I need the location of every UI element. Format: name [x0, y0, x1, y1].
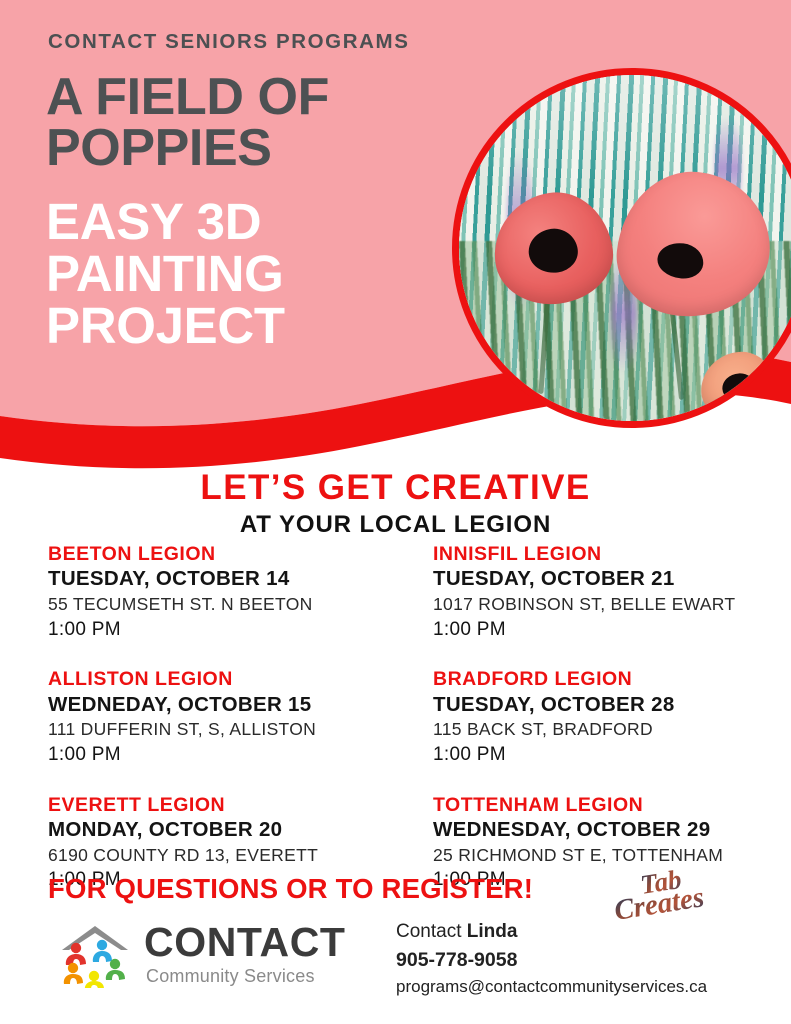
- contact-community-services-logo: CONTACT Community Services: [52, 918, 362, 990]
- legion-time: 1:00 PM: [433, 742, 791, 768]
- contact-details-block: Contact Linda 905-778-9058 programs@cont…: [396, 918, 707, 999]
- legion-address: 115 BACK ST, BRADFORD: [433, 718, 791, 742]
- legion-name: EVERETT LEGION: [48, 793, 433, 817]
- org-logo-tagline: Community Services: [146, 966, 315, 987]
- org-logo-wordmark: CONTACT: [144, 922, 346, 963]
- legion-date: WEDNEDAY, OCTOBER 15: [48, 692, 433, 719]
- title-dark-line-2: POPPIES: [46, 123, 329, 174]
- creative-subheadline: AT YOUR LOCAL LEGION: [0, 511, 791, 539]
- legion-entry: BRADFORD LEGION TUESDAY, OCTOBER 28 115 …: [433, 667, 791, 767]
- legion-address: 111 DUFFERIN ST, S, ALLISTON: [48, 718, 433, 742]
- poppy-center: [722, 372, 757, 403]
- contact-prefix-label: Contact: [396, 921, 467, 942]
- legion-date: MONDAY, OCTOBER 20: [48, 817, 433, 844]
- register-callout: FOR QUESTIONS OR TO REGISTER!: [48, 873, 533, 905]
- legion-name: BRADFORD LEGION: [433, 667, 791, 691]
- legion-entry: ALLISTON LEGION WEDNEDAY, OCTOBER 15 111…: [48, 667, 433, 767]
- legion-name: ALLISTON LEGION: [48, 667, 433, 691]
- legion-time: 1:00 PM: [48, 617, 433, 643]
- legion-schedule-grid: BEETON LEGION TUESDAY, OCTOBER 14 55 TEC…: [0, 542, 791, 918]
- legion-date: TUESDAY, OCTOBER 28: [433, 692, 791, 719]
- legion-column-left: BEETON LEGION TUESDAY, OCTOBER 14 55 TEC…: [48, 542, 433, 918]
- title-light-line-2: PAINTING: [46, 248, 285, 300]
- legion-entry: BEETON LEGION TUESDAY, OCTOBER 14 55 TEC…: [48, 542, 433, 642]
- legion-date: TUESDAY, OCTOBER 21: [433, 566, 791, 593]
- legion-address: 55 TECUMSETH ST. N BEETON: [48, 593, 433, 617]
- legion-entry: INNISFIL LEGION TUESDAY, OCTOBER 21 1017…: [433, 542, 791, 642]
- poppy-center: [525, 225, 580, 276]
- house-people-icon: [52, 920, 138, 988]
- title-light-line-3: PROJECT: [46, 300, 285, 352]
- poster-root: CONTACT SENIORS PROGRAMS A FIELD OF POPP…: [0, 0, 791, 1024]
- legion-time: 1:00 PM: [433, 617, 791, 643]
- legion-address: 25 RICHMOND ST E, TOTTENHAM: [433, 844, 791, 868]
- page-title-dark: A FIELD OF POPPIES: [46, 72, 329, 174]
- legion-date: TUESDAY, OCTOBER 14: [48, 566, 433, 593]
- legion-name: TOTTENHAM LEGION: [433, 793, 791, 817]
- creative-headline: LET’S GET CREATIVE: [0, 470, 791, 507]
- title-dark-line-1: A FIELD OF: [46, 72, 329, 123]
- legion-column-right: INNISFIL LEGION TUESDAY, OCTOBER 21 1017…: [433, 542, 791, 918]
- program-kicker: CONTACT SENIORS PROGRAMS: [48, 30, 409, 54]
- legion-date: WEDNESDAY, OCTOBER 29: [433, 817, 791, 844]
- legion-address: 6190 COUNTY RD 13, EVERETT: [48, 844, 433, 868]
- contact-person-line: Contact Linda: [396, 918, 707, 946]
- poppy-center: [656, 241, 705, 280]
- legion-name: INNISFIL LEGION: [433, 542, 791, 566]
- title-light-line-1: EASY 3D: [46, 196, 285, 248]
- contact-phone[interactable]: 905-778-9058: [396, 946, 707, 974]
- legion-address: 1017 ROBINSON ST, BELLE EWART: [433, 593, 791, 617]
- creative-heading-block: LET’S GET CREATIVE AT YOUR LOCAL LEGION: [0, 470, 791, 539]
- poppy-artwork-circle: [452, 68, 791, 428]
- legion-name: BEETON LEGION: [48, 542, 433, 566]
- page-title-light: EASY 3D PAINTING PROJECT: [46, 196, 285, 352]
- contact-person-name: Linda: [467, 921, 518, 942]
- legion-time: 1:00 PM: [48, 742, 433, 768]
- contact-email[interactable]: programs@contactcommunityservices.ca: [396, 974, 707, 1000]
